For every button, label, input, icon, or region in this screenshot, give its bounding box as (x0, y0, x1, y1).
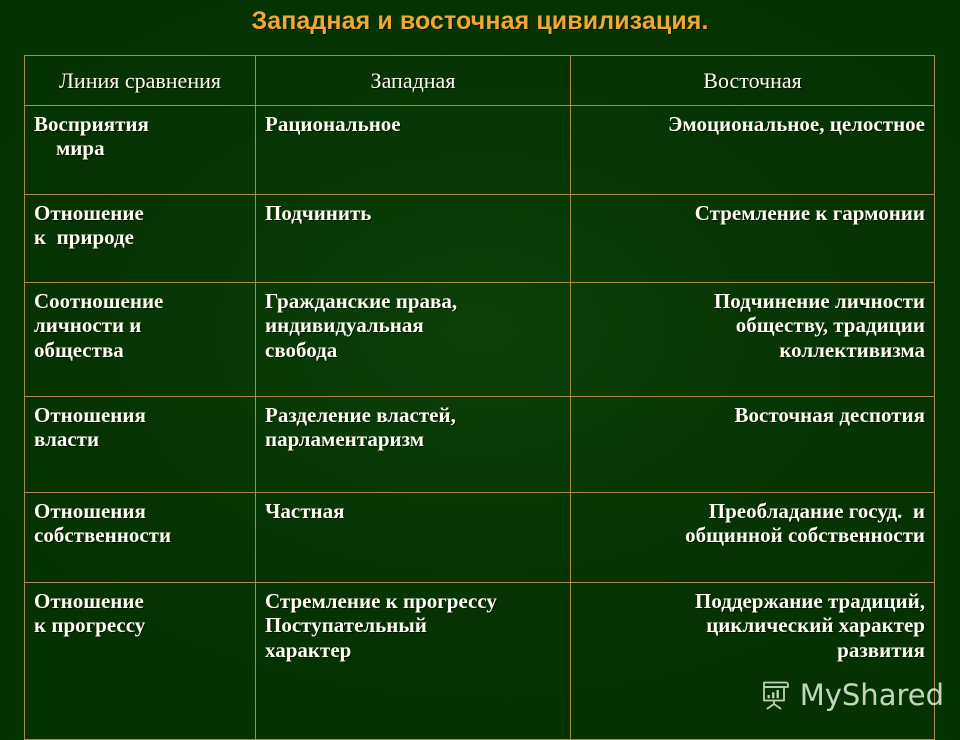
column-header-western: Западная (256, 56, 571, 106)
cell-line: свобода (265, 338, 561, 362)
cell-line: Стремление к гармонии (580, 201, 925, 225)
cell-western: Стремление к прогрессуПоступательныйхара… (256, 583, 571, 740)
cell-line: общинной собственности (580, 523, 925, 547)
cell-western: Частная (256, 493, 571, 583)
cell-line: Восточная деспотия (580, 403, 925, 427)
cell-line: Эмоциональное, целостное (580, 112, 925, 136)
cell-line: Преобладание госуд. и (580, 499, 925, 523)
table-row: Соотношениеличности иобществаГражданские… (25, 283, 935, 397)
cell-eastern: Стремление к гармонии (571, 195, 935, 283)
cell-line: общества (34, 338, 246, 362)
cell-western: Подчинить (256, 195, 571, 283)
cell-line: Отношение (34, 201, 246, 225)
cell-line: Восприятия (34, 112, 246, 136)
cell-line: власти (34, 427, 246, 451)
cell-line: к прогрессу (34, 613, 246, 637)
cell-line: Подчинить (265, 201, 561, 225)
table-header-row: Линия сравнения Западная Восточная (25, 56, 935, 106)
cell-criterion: Соотношениеличности иобщества (25, 283, 256, 397)
column-header-eastern: Восточная (571, 56, 935, 106)
table-row: ОтношениявластиРазделение властей,парлам… (25, 397, 935, 493)
cell-eastern: Поддержание традиций,циклический характе… (571, 583, 935, 740)
table-row: ВосприятиямираРациональноеЭмоциональное,… (25, 106, 935, 195)
cell-line: Отношения (34, 499, 246, 523)
cell-line: обществу, традиции (580, 313, 925, 337)
column-header-criterion: Линия сравнения (25, 56, 256, 106)
cell-line: развития (580, 638, 925, 662)
cell-line: личности и (34, 313, 246, 337)
cell-eastern: Подчинение личностиобществу, традициикол… (571, 283, 935, 397)
cell-line: Поступательный (265, 613, 561, 637)
cell-western: Рациональное (256, 106, 571, 195)
cell-line: Отношение (34, 589, 246, 613)
cell-line: Отношения (34, 403, 246, 427)
cell-line: Подчинение личности (580, 289, 925, 313)
cell-line: мира (34, 136, 246, 160)
cell-western: Разделение властей,парламентаризм (256, 397, 571, 493)
table-row: Отношениек природеПодчинитьСтремление к … (25, 195, 935, 283)
cell-line: циклический характер (580, 613, 925, 637)
cell-criterion: Отношениясобственности (25, 493, 256, 583)
cell-line: парламентаризм (265, 427, 561, 451)
cell-line: характер (265, 638, 561, 662)
cell-line: Рациональное (265, 112, 561, 136)
cell-eastern: Восточная деспотия (571, 397, 935, 493)
cell-criterion: Отношениек природе (25, 195, 256, 283)
table-row: Отношениек прогрессуСтремление к прогрес… (25, 583, 935, 740)
cell-line: собственности (34, 523, 246, 547)
comparison-table-container: Линия сравнения Западная Восточная Воспр… (24, 55, 934, 668)
cell-line: Разделение властей, (265, 403, 561, 427)
table-row: ОтношениясобственностиЧастнаяПреобладани… (25, 493, 935, 583)
cell-criterion: Отношениек прогрессу (25, 583, 256, 740)
cell-line: Стремление к прогрессу (265, 589, 561, 613)
cell-line: Поддержание традиций, (580, 589, 925, 613)
cell-western: Гражданские права,индивидуальнаясвобода (256, 283, 571, 397)
cell-criterion: Восприятиямира (25, 106, 256, 195)
cell-line: к природе (34, 225, 246, 249)
cell-line: коллективизма (580, 338, 925, 362)
cell-line: Гражданские права, (265, 289, 561, 313)
cell-line: Соотношение (34, 289, 246, 313)
cell-eastern: Эмоциональное, целостное (571, 106, 935, 195)
page-title: Западная и восточная цивилизация. (0, 7, 960, 36)
cell-criterion: Отношениявласти (25, 397, 256, 493)
comparison-table: Линия сравнения Западная Восточная Воспр… (24, 55, 935, 740)
cell-line: индивидуальная (265, 313, 561, 337)
cell-line: Частная (265, 499, 561, 523)
cell-eastern: Преобладание госуд. иобщинной собственно… (571, 493, 935, 583)
